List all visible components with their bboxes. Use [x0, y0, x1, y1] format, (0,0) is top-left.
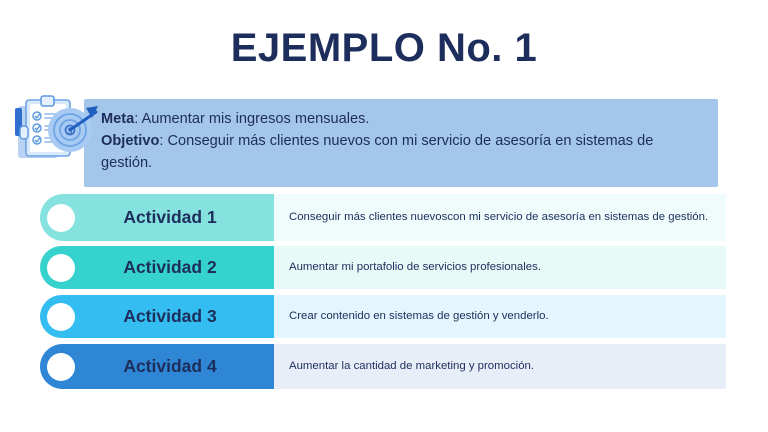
meta-line: Meta: Aumentar mis ingresos mensuales. [101, 108, 704, 130]
slide-canvas: EJEMPLO No. 1 Meta: Aumentar mis ingreso… [0, 0, 768, 432]
activity-pill-1[interactable]: Actividad 1 [40, 194, 274, 241]
activity-knob-icon [47, 353, 75, 381]
meta-value: : Aumentar mis ingresos mensuales. [134, 111, 369, 127]
activity-label: Actividad 4 [97, 356, 216, 377]
activity-description: Crear contenido en sistemas de gestión y… [274, 295, 726, 338]
activity-knob-icon [47, 204, 75, 232]
goal-banner-text: Meta: Aumentar mis ingresos mensuales. O… [101, 108, 704, 175]
activity-label: Actividad 1 [97, 207, 216, 228]
activity-knob-icon [47, 254, 75, 282]
activity-pill-3[interactable]: Actividad 3 [40, 295, 274, 338]
meta-label: Meta [101, 111, 134, 127]
page-title: EJEMPLO No. 1 [0, 26, 768, 70]
activity-label: Actividad 3 [97, 306, 216, 327]
activity-pill-4[interactable]: Actividad 4 [40, 344, 274, 389]
objetivo-value: : Conseguir más clientes nuevos con mi s… [101, 133, 653, 171]
activity-row[interactable]: Actividad 4 Aumentar la cantidad de mark… [40, 344, 726, 389]
activity-description: Aumentar mi portafolio de servicios prof… [274, 246, 726, 289]
clipboard-checklist-target-icon: $ [12, 92, 98, 170]
objetivo-label: Objetivo [101, 133, 159, 149]
activity-description: Conseguir más clientes nuevoscon mi serv… [274, 194, 726, 241]
activity-description: Aumentar la cantidad de marketing y prom… [274, 344, 726, 389]
activity-knob-icon [47, 303, 75, 331]
activity-pill-2[interactable]: Actividad 2 [40, 246, 274, 289]
objetivo-line: Objetivo: Conseguir más clientes nuevos … [101, 130, 704, 174]
activity-row[interactable]: Actividad 2 Aumentar mi portafolio de se… [40, 246, 726, 289]
activity-label: Actividad 2 [97, 257, 216, 278]
activity-row[interactable]: Actividad 1 Conseguir más clientes nuevo… [40, 194, 726, 241]
activity-row[interactable]: Actividad 3 Crear contenido en sistemas … [40, 295, 726, 338]
goal-banner: Meta: Aumentar mis ingresos mensuales. O… [84, 99, 718, 187]
